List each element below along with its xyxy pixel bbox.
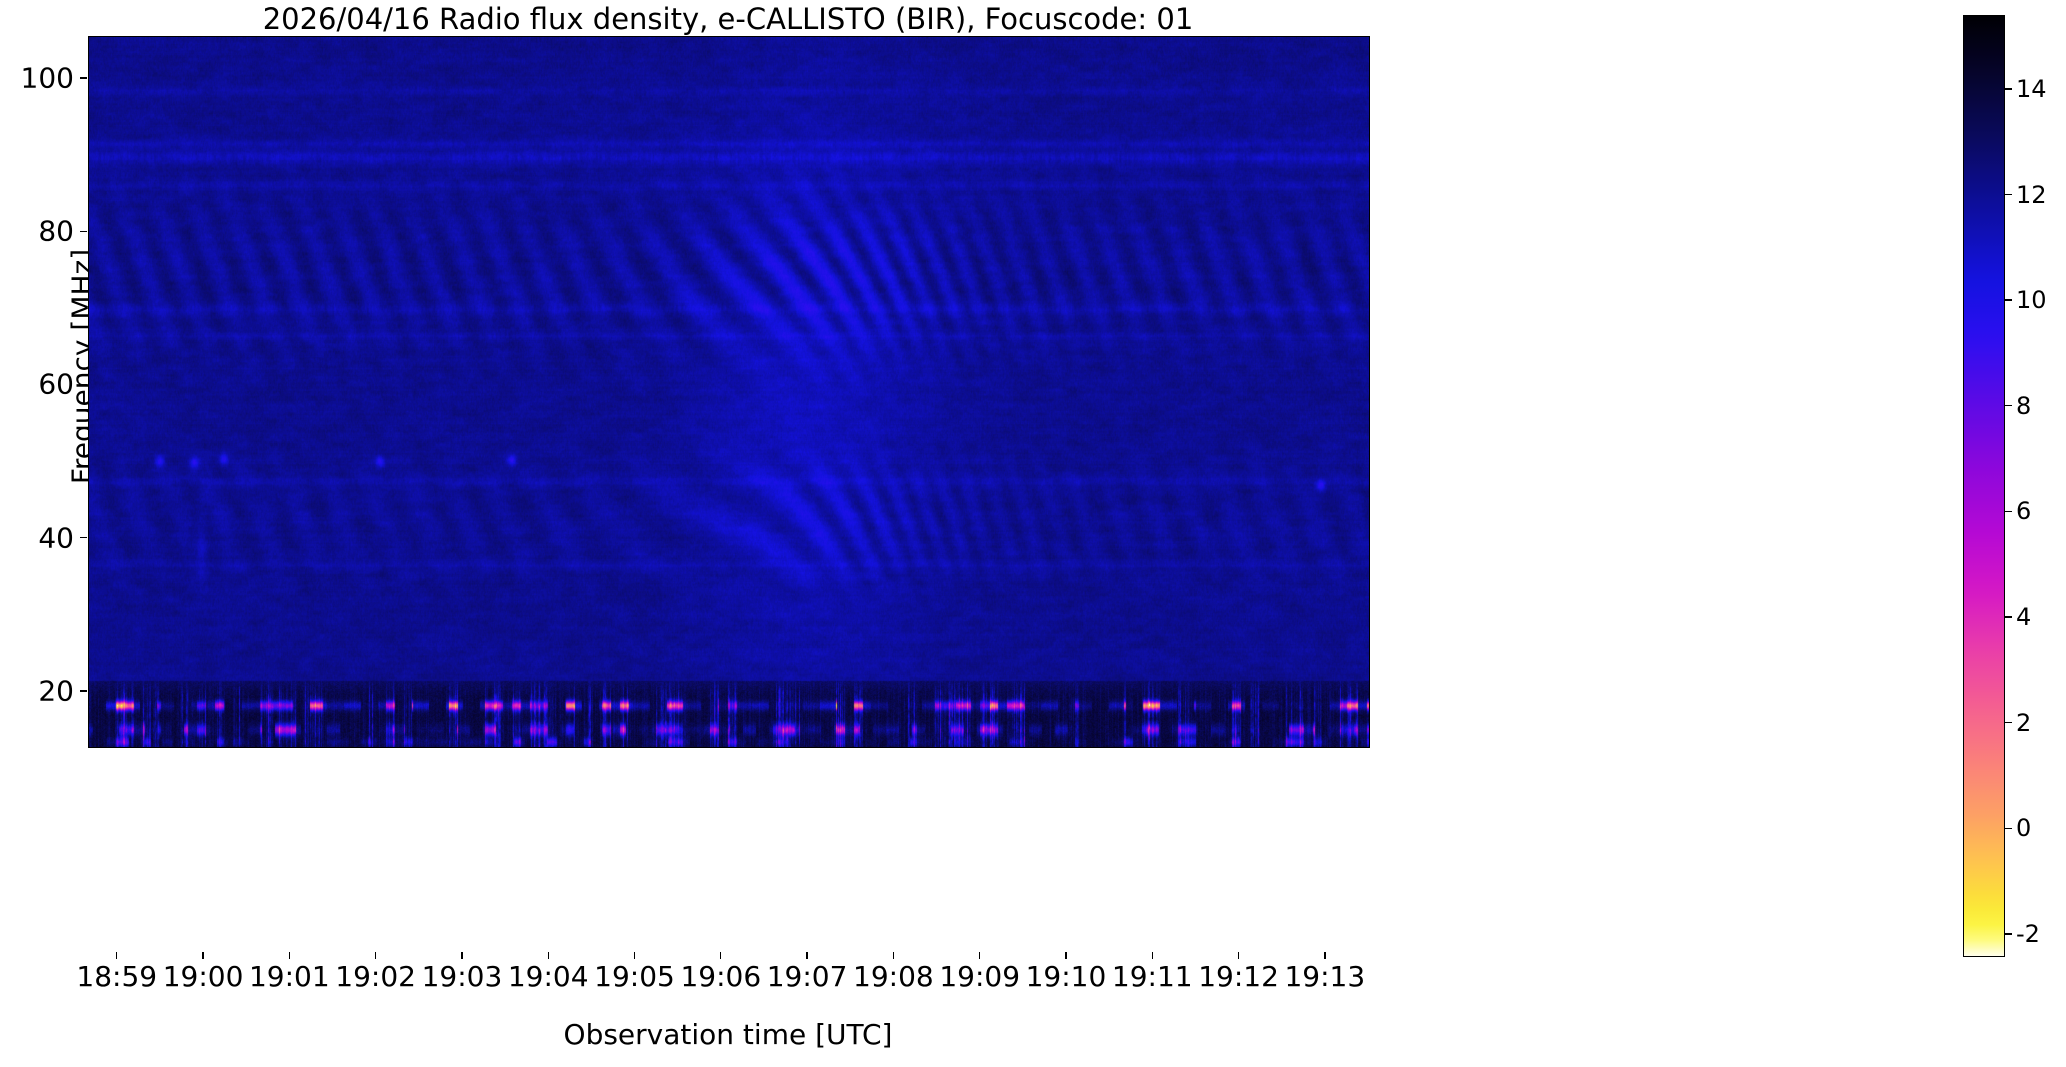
spectrogram-image <box>89 37 1369 747</box>
x-tick-mark <box>202 952 203 959</box>
colorbar-tick-label: 10 <box>2016 286 2047 314</box>
colorbar-tick-label: 8 <box>2016 392 2031 420</box>
x-tick-mark <box>1324 952 1325 959</box>
y-tick-label: 100 <box>21 62 74 95</box>
x-tick-mark <box>634 952 635 959</box>
x-tick-label: 19:11 <box>1112 960 1193 993</box>
x-axis-label: Observation time [UTC] <box>88 1018 1368 1051</box>
x-tick-mark <box>1152 952 1153 959</box>
y-tick-mark <box>80 77 87 78</box>
colorbar[interactable] <box>1963 15 2005 957</box>
y-tick-mark <box>80 537 87 538</box>
x-tick-mark <box>289 952 290 959</box>
x-tick-label: 19:03 <box>422 960 503 993</box>
colorbar-gradient <box>1964 16 2004 956</box>
colorbar-tick-mark <box>2005 299 2012 300</box>
colorbar-tick-label: 6 <box>2016 497 2031 525</box>
y-tick-label: 40 <box>38 521 74 554</box>
colorbar-tick-mark <box>2005 933 2012 934</box>
x-tick-mark <box>548 952 549 959</box>
x-tick-label: 19:10 <box>1026 960 1107 993</box>
x-tick-mark <box>979 952 980 959</box>
x-tick-mark <box>1065 952 1066 959</box>
x-tick-mark <box>461 952 462 959</box>
x-tick-mark <box>116 952 117 959</box>
y-tick-mark <box>80 231 87 232</box>
colorbar-tick-mark <box>2005 722 2012 723</box>
colorbar-tick-label: -2 <box>2016 920 2040 948</box>
x-tick-label: 19:06 <box>680 960 761 993</box>
colorbar-tick-mark <box>2005 616 2012 617</box>
x-tick-label: 18:59 <box>76 960 157 993</box>
x-tick-label: 19:13 <box>1284 960 1365 993</box>
x-tick-mark <box>1238 952 1239 959</box>
page-title: 2026/04/16 Radio flux density, e-CALLIST… <box>88 2 1368 36</box>
colorbar-tick-mark <box>2005 405 2012 406</box>
x-tick-mark <box>893 952 894 959</box>
x-tick-label: 19:12 <box>1198 960 1279 993</box>
colorbar-tick-label: 14 <box>2016 75 2047 103</box>
figure-canvas: 2026/04/16 Radio flux density, e-CALLIST… <box>0 0 2066 1067</box>
colorbar-tick-label: 4 <box>2016 603 2031 631</box>
y-tick-mark <box>80 384 87 385</box>
x-tick-label: 19:05 <box>594 960 675 993</box>
x-tick-label: 19:07 <box>767 960 848 993</box>
x-tick-label: 19:04 <box>508 960 589 993</box>
colorbar-tick-label: 2 <box>2016 709 2031 737</box>
x-tick-label: 19:09 <box>939 960 1020 993</box>
spectrogram-plot-area[interactable] <box>88 36 1370 748</box>
y-tick-label: 60 <box>38 368 74 401</box>
colorbar-tick-mark <box>2005 511 2012 512</box>
colorbar-tick-mark <box>2005 88 2012 89</box>
colorbar-tick-mark <box>2005 194 2012 195</box>
x-tick-mark <box>806 952 807 959</box>
x-tick-label: 19:01 <box>249 960 330 993</box>
y-tick-mark <box>80 690 87 691</box>
colorbar-tick-label: 0 <box>2016 814 2031 842</box>
x-tick-mark <box>375 952 376 959</box>
x-tick-mark <box>720 952 721 959</box>
colorbar-tick-label: 12 <box>2016 181 2047 209</box>
y-tick-label: 20 <box>38 674 74 707</box>
x-tick-label: 19:00 <box>163 960 244 993</box>
y-tick-label: 80 <box>38 215 74 248</box>
colorbar-tick-mark <box>2005 828 2012 829</box>
x-tick-label: 19:08 <box>853 960 934 993</box>
x-tick-label: 19:02 <box>335 960 416 993</box>
